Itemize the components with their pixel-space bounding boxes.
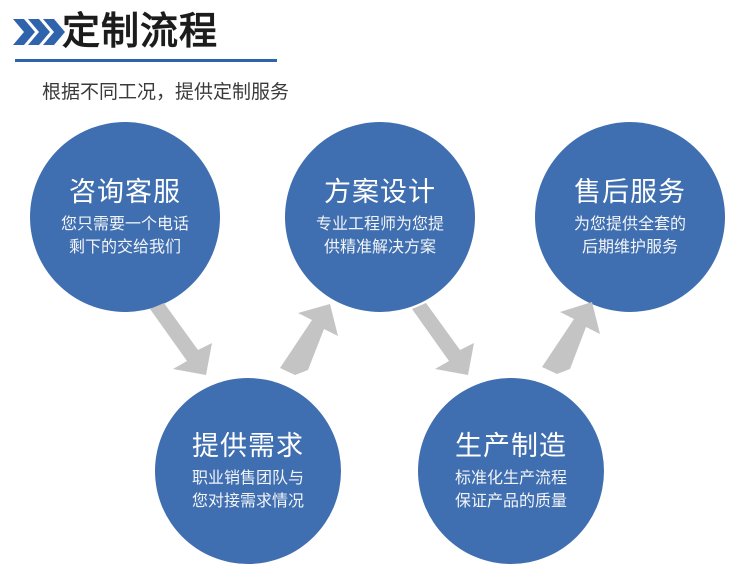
flow-step-production-manufacturing[interactable]: 生产制造 标准化生产流程 保证产品的质量 bbox=[418, 378, 604, 564]
arrow-down-right-icon bbox=[408, 303, 480, 375]
arrow-up-right-icon bbox=[278, 300, 348, 375]
step-desc-line2: 您对接需求情况 bbox=[192, 490, 304, 513]
step-title: 售后服务 bbox=[574, 175, 686, 209]
page-subtitle: 根据不同工况，提供定制服务 bbox=[42, 80, 289, 106]
title-underline-rule bbox=[15, 59, 277, 62]
step-desc-line2: 后期维护服务 bbox=[582, 236, 678, 259]
step-desc-line1: 专业工程师为您提 bbox=[316, 213, 444, 236]
page-title: 定制流程 bbox=[62, 8, 218, 56]
customization-process-infographic: 定制流程 根据不同工况，提供定制服务 咨询客服 您只需要一个电话 剩下的交给我们… bbox=[0, 0, 750, 576]
step-title: 方案设计 bbox=[324, 175, 436, 209]
flow-step-provide-requirements[interactable]: 提供需求 职业销售团队与 您对接需求情况 bbox=[155, 378, 341, 564]
flow-step-solution-design[interactable]: 方案设计 专业工程师为您提 供精准解决方案 bbox=[285, 122, 475, 312]
step-desc-line1: 您只需要一个电话 bbox=[61, 213, 189, 236]
step-desc-line1: 为您提供全套的 bbox=[574, 213, 686, 236]
flow-step-after-sales-service[interactable]: 售后服务 为您提供全套的 后期维护服务 bbox=[535, 122, 725, 312]
step-title: 生产制造 bbox=[455, 429, 567, 463]
step-desc-line1: 职业销售团队与 bbox=[192, 467, 304, 490]
step-title: 提供需求 bbox=[192, 429, 304, 463]
step-title: 咨询客服 bbox=[69, 175, 181, 209]
page-header: 定制流程 根据不同工况，提供定制服务 bbox=[0, 0, 750, 70]
step-desc-line2: 保证产品的质量 bbox=[455, 490, 567, 513]
arrow-down-right-icon bbox=[146, 303, 216, 375]
arrow-up-right-icon bbox=[540, 298, 612, 374]
triple-chevron-right-icon bbox=[13, 17, 65, 47]
step-desc-line2: 剩下的交给我们 bbox=[69, 236, 181, 259]
step-desc-line1: 标准化生产流程 bbox=[455, 467, 567, 490]
flow-step-consult-service[interactable]: 咨询客服 您只需要一个电话 剩下的交给我们 bbox=[30, 122, 220, 312]
step-desc-line2: 供精准解决方案 bbox=[324, 236, 436, 259]
